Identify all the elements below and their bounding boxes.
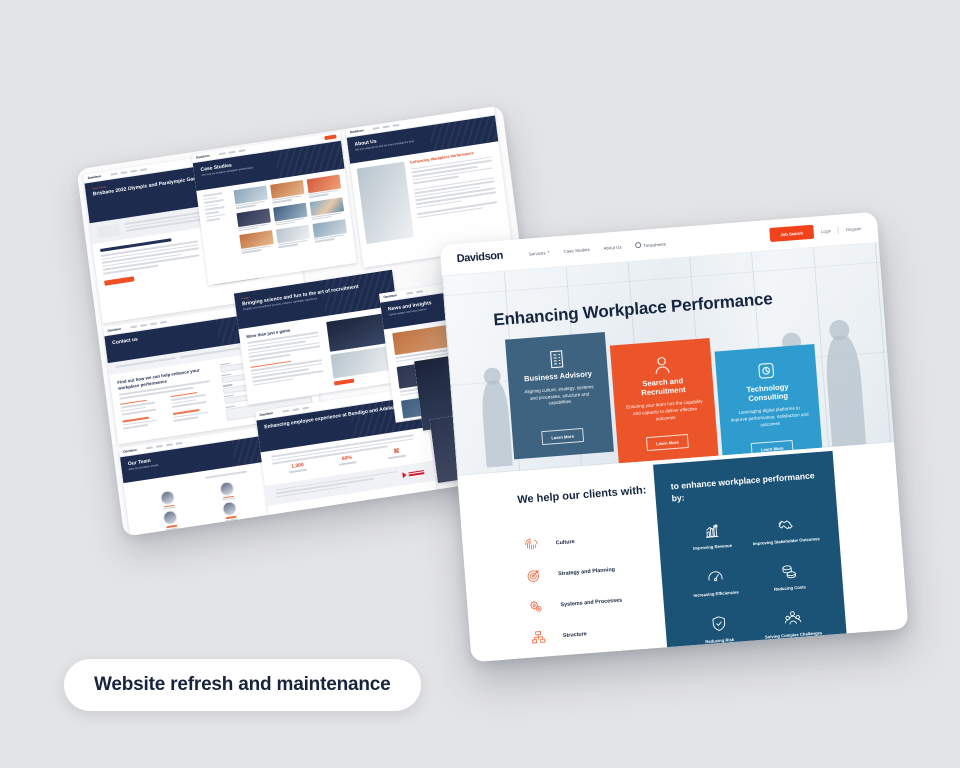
bar-chart-up-icon — [702, 521, 721, 540]
bendigo-logo — [402, 469, 425, 478]
case-study-card[interactable] — [234, 185, 269, 208]
mini-nav-links — [282, 407, 309, 413]
team-member[interactable] — [222, 501, 238, 522]
nav-item-case-studies[interactable]: Case Studies — [563, 246, 589, 253]
help-item-structure[interactable]: Structure — [529, 622, 625, 646]
site-logo[interactable]: Davidson — [456, 250, 503, 266]
main-navigation: Services Case Studies About Us Timesheet… — [529, 240, 667, 257]
learn-more-button[interactable]: Learn More — [541, 428, 585, 445]
coins-icon — [779, 562, 798, 581]
mini-logo: Davidson — [88, 174, 102, 180]
caption-pill: Website refresh and maintenance — [64, 659, 421, 711]
help-item-label: Culture — [556, 538, 575, 545]
mini-about-image — [357, 162, 414, 245]
enhance-item-solving-complex-challenges[interactable]: Solving Complex Challenges — [755, 606, 831, 640]
case-study-card[interactable] — [307, 174, 342, 197]
card-title: Search and Recruitment — [624, 375, 703, 399]
mini-page-science-of-recruitment[interactable]: Insight Bringing science and fun to the … — [234, 270, 407, 405]
help-item-label: Structure — [563, 631, 587, 639]
enhance-item-label: Reducing Risk — [705, 637, 734, 645]
divider — [838, 226, 840, 233]
handshake-icon — [775, 515, 794, 534]
avatar — [220, 480, 236, 496]
mini-logo: Davidson — [123, 448, 137, 454]
gauge-icon — [705, 567, 724, 586]
case-study-card[interactable] — [276, 225, 311, 248]
mini-nav-links — [218, 149, 245, 155]
hero-section: Enhancing Workplace Performance Business… — [442, 243, 894, 476]
chevron-down-icon — [548, 251, 550, 253]
mini-page-case-studies[interactable]: Davidson Case Studies See how we enhance… — [192, 132, 357, 285]
mini-logo: Davidson — [259, 411, 273, 417]
case-study-card[interactable] — [273, 202, 308, 225]
help-item-label: Strategy and Planning — [558, 566, 615, 576]
card-title: Technology Consulting — [728, 381, 807, 405]
team-member[interactable] — [163, 510, 179, 531]
help-item-systems-and-processes[interactable]: Systems and Processes — [527, 591, 623, 615]
clock-icon — [635, 242, 641, 248]
mini-crest-logo — [97, 224, 120, 238]
mini-nav-links — [372, 124, 399, 130]
case-study-card[interactable] — [239, 230, 274, 253]
card-body: Ensuring your team has the capability an… — [625, 399, 704, 425]
mini-nav-links — [406, 290, 423, 294]
fingerprint-icon — [522, 536, 540, 554]
enhance-panel: to enhance workplace performance by: Imp… — [653, 451, 847, 656]
card-title: Business Advisory — [524, 369, 593, 383]
help-item-capability-and-capacity[interactable]: Capability and Capacity — [532, 653, 628, 662]
front-browser-window[interactable]: Davidson Services Case Studies About Us … — [440, 212, 909, 662]
stat-item: 1,300 — [288, 462, 307, 473]
help-item-culture[interactable]: Culture — [522, 530, 618, 554]
target-icon — [525, 567, 543, 585]
case-study-card[interactable] — [236, 208, 271, 231]
card-body: Aligning culture, strategy, systems and … — [520, 384, 599, 410]
mini-logo: Davidson — [350, 128, 364, 134]
gears-icon — [527, 597, 545, 615]
case-study-card[interactable] — [310, 197, 345, 220]
job-search-button[interactable]: Job Search — [769, 225, 815, 242]
stat-item: 60% — [338, 455, 357, 466]
service-card-search-and-recruitment[interactable]: Search and Recruitment Ensuring your tea… — [610, 338, 719, 465]
mini-job-search-button[interactable] — [324, 134, 336, 140]
enhance-item-label: Improving Stakeholder Outcomes — [753, 536, 820, 547]
enhance-item-label: Improving Revenue — [693, 543, 732, 552]
lightbulb-icon — [532, 659, 550, 662]
enhance-item-increasing-efficiencies[interactable]: Increasing Efficiencies — [677, 565, 753, 599]
nav-item-timesheets[interactable]: Timesheets — [635, 240, 666, 249]
stat-item: ⌘ — [387, 447, 406, 458]
nav-item-services[interactable]: Services — [529, 250, 550, 257]
shield-icon — [709, 614, 728, 633]
device-icon — [756, 359, 776, 382]
help-item-label: Capability and Capacity — [565, 659, 626, 662]
help-section: We help our clients with: Culture — [457, 442, 908, 662]
help-item-strategy-and-planning[interactable]: Strategy and Planning — [525, 561, 621, 585]
person-icon — [652, 353, 671, 376]
screenshot-stage: Davidson Case Study Brisbane 2032 Olympi… — [0, 0, 960, 768]
help-item-label: Systems and Processes — [560, 597, 622, 608]
team-member[interactable] — [160, 489, 176, 510]
service-card-business-advisory[interactable]: Business Advisory Aligning culture, stra… — [505, 332, 614, 459]
enhance-item-label: Solving Complex Challenges — [765, 630, 823, 640]
enhance-item-improving-revenue[interactable]: Improving Revenue — [674, 519, 750, 553]
header-actions: Job Search Login Register — [769, 221, 862, 242]
enhance-panel-title: to enhance workplace performance by: — [670, 470, 819, 504]
mini-logo: Davidson — [383, 293, 397, 299]
learn-more-button[interactable]: Learn More — [646, 434, 690, 451]
enhance-item-reducing-risk[interactable]: Reducing Risk — [681, 612, 757, 646]
mini-logo: Davidson — [196, 154, 210, 160]
avatar — [163, 510, 179, 526]
help-section-title: We help our clients with: — [517, 483, 647, 507]
puzzle-people-icon — [783, 608, 802, 627]
enhance-item-reducing-costs[interactable]: Reducing Costs — [751, 560, 827, 594]
avatar — [160, 489, 176, 505]
help-items-list: Culture Strategy and Planning — [522, 530, 627, 663]
case-study-card[interactable] — [313, 219, 348, 242]
card-body: Leveraging digital platforms to improve … — [730, 405, 809, 431]
enhance-item-improving-stakeholder-outcomes[interactable]: Improving Stakeholder Outcomes — [747, 513, 823, 547]
org-chart-icon — [529, 628, 547, 646]
avatar — [222, 501, 238, 517]
enhance-items-grid: Improving Revenue Improving Stakeholder … — [674, 513, 831, 646]
nav-item-about-us[interactable]: About Us — [603, 244, 621, 250]
team-member[interactable] — [220, 480, 236, 501]
case-study-card[interactable] — [270, 180, 305, 203]
building-icon — [548, 347, 566, 370]
mini-logo: Davidson — [107, 327, 121, 333]
enhance-item-label: Reducing Costs — [774, 584, 806, 592]
enhance-item-label: Increasing Efficiencies — [693, 589, 739, 598]
login-link[interactable]: Login — [821, 228, 832, 234]
register-link[interactable]: Register — [846, 226, 862, 232]
